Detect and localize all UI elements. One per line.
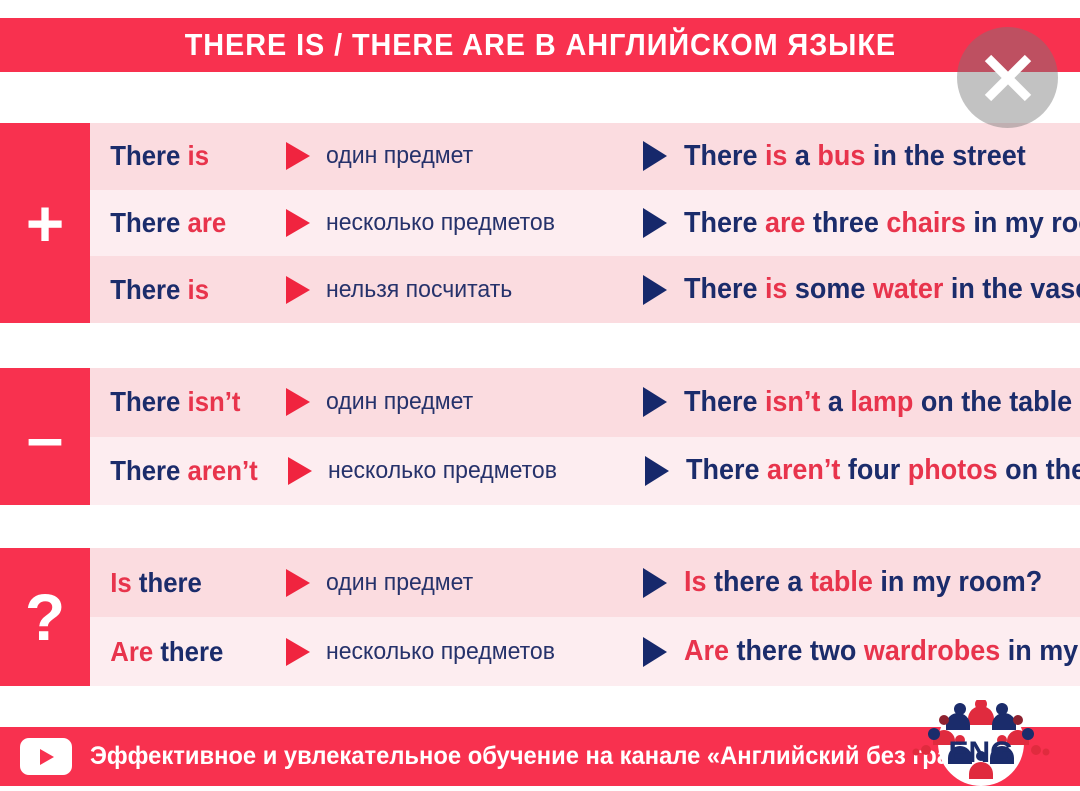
table-row: There aren’tнесколько предметовThere are… xyxy=(90,437,1080,506)
formula-text: There is xyxy=(90,140,256,172)
meaning-text: один предмет xyxy=(326,388,614,416)
eng-logo: ENG xyxy=(898,700,1064,786)
formula-text: Is there xyxy=(90,567,256,599)
example-sentence: There isn’t a lamp on the table xyxy=(684,386,1080,419)
footer-text: Эффективное и увлекательное обучение на … xyxy=(90,742,1007,771)
formula-text: There isn’t xyxy=(90,386,256,418)
table-row: There isn’tодин предметThere isn’t a lam… xyxy=(90,368,1080,437)
question-sign: ? xyxy=(25,584,65,650)
close-icon xyxy=(975,45,1041,111)
formula-text: There are xyxy=(90,207,256,239)
meaning-text: несколько предметов xyxy=(326,209,614,237)
page-title: THERE IS / THERE ARE В АНГЛИЙСКОМ ЯЗЫКЕ xyxy=(184,27,895,63)
sign-box-minus: – xyxy=(0,368,90,505)
section-affirmative: + There isодин предметThere is a bus in … xyxy=(0,123,1080,323)
meaning-text: несколько предметов xyxy=(328,457,616,485)
section-negative: – There isn’tодин предметThere isn’t a l… xyxy=(0,368,1080,505)
play-icon[interactable] xyxy=(20,738,72,775)
eng-logo-icon: ENG xyxy=(898,700,1064,786)
meaning-text: нельзя посчитать xyxy=(326,276,614,304)
navy-arrow-icon xyxy=(626,385,684,419)
meaning-text: один предмет xyxy=(326,142,614,170)
table-row: Is thereодин предметIs there a table in … xyxy=(90,548,1080,617)
navy-arrow-icon xyxy=(628,454,686,488)
table-row: There isодин предметThere is a bus in th… xyxy=(90,123,1080,190)
rows-affirmative: There isодин предметThere is a bus in th… xyxy=(90,123,1080,323)
minus-sign: – xyxy=(27,404,64,470)
navy-arrow-icon xyxy=(626,273,684,307)
example-sentence: There is a bus in the street xyxy=(684,140,1080,173)
red-arrow-icon xyxy=(270,386,326,418)
formula-text: Are there xyxy=(90,636,256,668)
table-row: There areнесколько предметовThere are th… xyxy=(90,190,1080,257)
red-arrow-icon xyxy=(270,140,326,172)
red-arrow-icon xyxy=(270,274,326,306)
formula-text: There aren’t xyxy=(90,455,258,487)
sign-box-plus: + xyxy=(0,123,90,323)
red-arrow-icon xyxy=(270,567,326,599)
formula-text: There is xyxy=(90,274,256,306)
example-sentence: Is there a table in my room? xyxy=(684,566,1080,599)
red-arrow-icon xyxy=(270,636,326,668)
example-sentence: There aren’t four photos on the wall xyxy=(686,454,1080,487)
example-sentence: There are three chairs in my room xyxy=(684,207,1080,240)
rows-negative: There isn’tодин предметThere isn’t a lam… xyxy=(90,368,1080,505)
svg-text:ENG: ENG xyxy=(948,736,1013,769)
table-row: There isнельзя посчитатьThere is some wa… xyxy=(90,256,1080,323)
meaning-text: один предмет xyxy=(326,569,614,597)
sign-box-question: ? xyxy=(0,548,90,686)
section-question: ? Is thereодин предметIs there a table i… xyxy=(0,548,1080,686)
play-triangle-icon xyxy=(35,746,57,768)
close-button[interactable] xyxy=(957,27,1058,128)
example-sentence: Are there two wardrobes in my room? xyxy=(684,635,1080,668)
example-sentence: There is some water in the vase xyxy=(684,273,1080,306)
plus-sign: + xyxy=(26,190,65,256)
red-arrow-icon xyxy=(270,207,326,239)
navy-arrow-icon xyxy=(626,566,684,600)
meaning-text: несколько предметов xyxy=(326,638,614,666)
navy-arrow-icon xyxy=(626,206,684,240)
table-row: Are thereнесколько предметовAre there tw… xyxy=(90,617,1080,686)
navy-arrow-icon xyxy=(626,139,684,173)
title-bar: THERE IS / THERE ARE В АНГЛИЙСКОМ ЯЗЫКЕ xyxy=(0,18,1080,72)
red-arrow-icon xyxy=(272,455,328,487)
rows-question: Is thereодин предметIs there a table in … xyxy=(90,548,1080,686)
navy-arrow-icon xyxy=(626,635,684,669)
